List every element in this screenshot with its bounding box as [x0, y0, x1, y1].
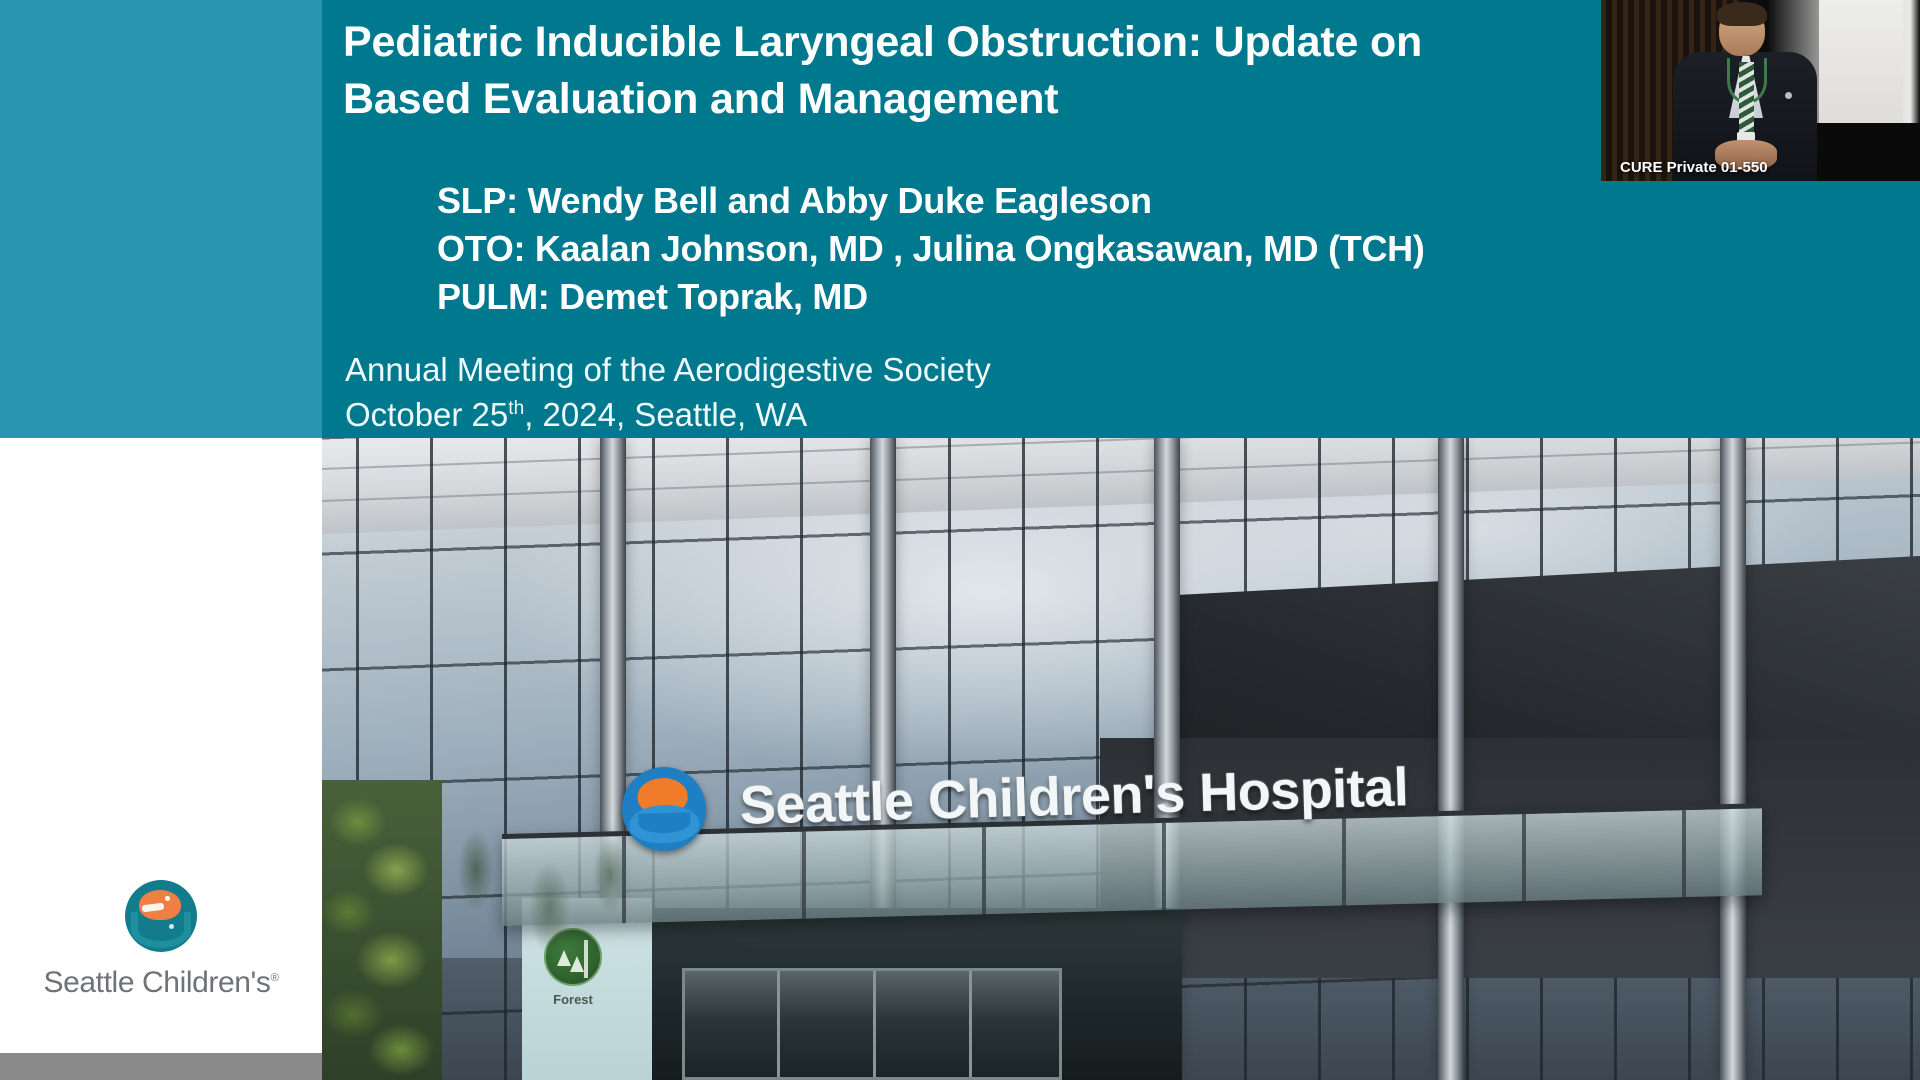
wordmark-text: Seattle Children's	[44, 966, 271, 999]
salmon-hand-logo-icon	[125, 880, 197, 952]
title-line-1: Pediatric Inducible Laryngeal Obstructio…	[343, 14, 1673, 71]
left-accent-band	[0, 0, 322, 438]
presenter-line-slp: SLP: Wendy Bell and Abby Duke Eagleson	[437, 177, 1737, 225]
date-prefix: October 25	[345, 396, 508, 433]
tree-reflection	[434, 770, 644, 1020]
video-overlay-label: CURE Private 01-550	[1601, 155, 1920, 181]
date-suffix: , 2024, Seattle, WA	[524, 396, 807, 433]
door-divider	[777, 971, 780, 1077]
lapel-pin-icon	[1785, 92, 1792, 99]
door-divider	[873, 971, 876, 1077]
speaker-necktie	[1739, 62, 1754, 140]
bottom-gray-bar	[0, 1053, 322, 1080]
presenter-list: SLP: Wendy Bell and Abby Duke Eagleson O…	[437, 177, 1737, 321]
page-title: Pediatric Inducible Laryngeal Obstructio…	[343, 14, 1673, 128]
background-projection-screen	[1819, 0, 1903, 130]
salmon-eye-icon	[165, 896, 170, 901]
registered-trademark-icon: ®	[271, 972, 279, 984]
video-overlay[interactable]: CURE Private 01-550	[1601, 0, 1920, 181]
seattle-childrens-logo: Seattle Children's®	[0, 880, 322, 1030]
meeting-date: October 25th, 2024, Seattle, WA	[345, 393, 1545, 438]
entrance-doors	[682, 968, 1062, 1080]
hospital-building-photo: Forest Seattle Children's Hospital	[322, 438, 1920, 1080]
speaker-hair	[1717, 2, 1767, 26]
cradling-hand-icon	[131, 912, 191, 948]
door-divider	[969, 971, 972, 1077]
hand-accent-dot-icon	[169, 924, 174, 929]
date-ordinal: th	[508, 398, 524, 419]
title-line-2: Based Evaluation and Management	[343, 71, 1673, 128]
brand-wordmark: Seattle Children's®	[0, 966, 322, 1000]
meeting-name: Annual Meeting of the Aerodigestive Soci…	[345, 348, 1545, 393]
foreground-foliage	[322, 780, 442, 1080]
presenter-line-pulm: PULM: Demet Toprak, MD	[437, 273, 1737, 321]
presentation-slide: Pediatric Inducible Laryngeal Obstructio…	[0, 0, 1920, 1080]
presenter-line-oto: OTO: Kaalan Johnson, MD , Julina Ongkasa…	[437, 225, 1737, 273]
meeting-details: Annual Meeting of the Aerodigestive Soci…	[345, 348, 1545, 438]
